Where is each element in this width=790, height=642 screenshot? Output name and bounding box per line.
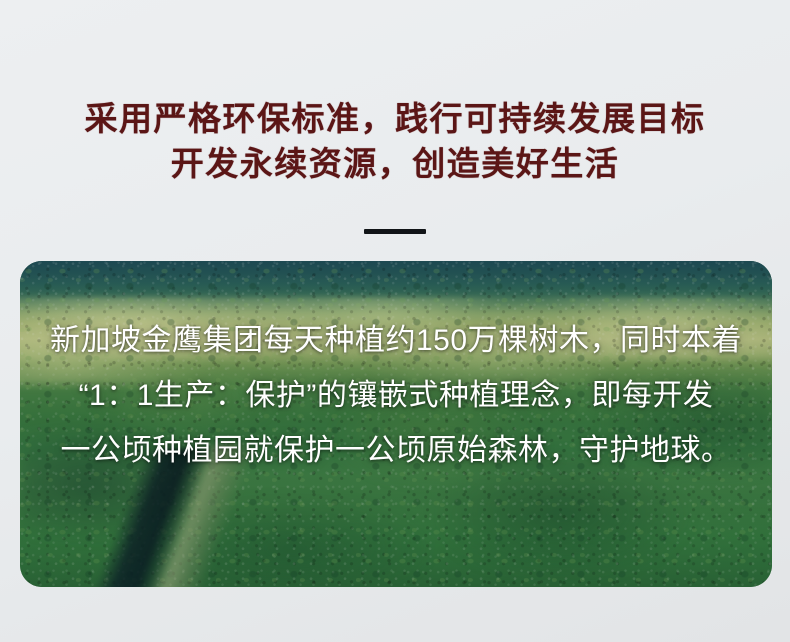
divider-wrap	[0, 221, 790, 239]
heading-block: 采用严格环保标准，践行可持续发展目标 开发永续资源，创造美好生活	[0, 96, 790, 186]
photo-caption: 新加坡金鹰集团每天种植约150万棵树木，同时本着 “1：1生产：保护”的镶嵌式种…	[20, 313, 772, 478]
heading-line-1: 采用严格环保标准，践行可持续发展目标	[0, 96, 790, 141]
section-divider	[364, 229, 426, 234]
caption-line-2: “1：1生产：保护”的镶嵌式种植理念，即每开发	[20, 368, 772, 423]
heading-line-2: 开发永续资源，创造美好生活	[0, 141, 790, 186]
caption-line-1: 新加坡金鹰集团每天种植约150万棵树木，同时本着	[20, 313, 772, 368]
forest-photo-card: 新加坡金鹰集团每天种植约150万棵树木，同时本着 “1：1生产：保护”的镶嵌式种…	[20, 261, 772, 587]
caption-line-3: 一公顷种植园就保护一公顷原始森林，守护地球。	[20, 423, 772, 478]
promo-page: 采用严格环保标准，践行可持续发展目标 开发永续资源，创造美好生活 新加坡金鹰集团…	[0, 0, 790, 642]
